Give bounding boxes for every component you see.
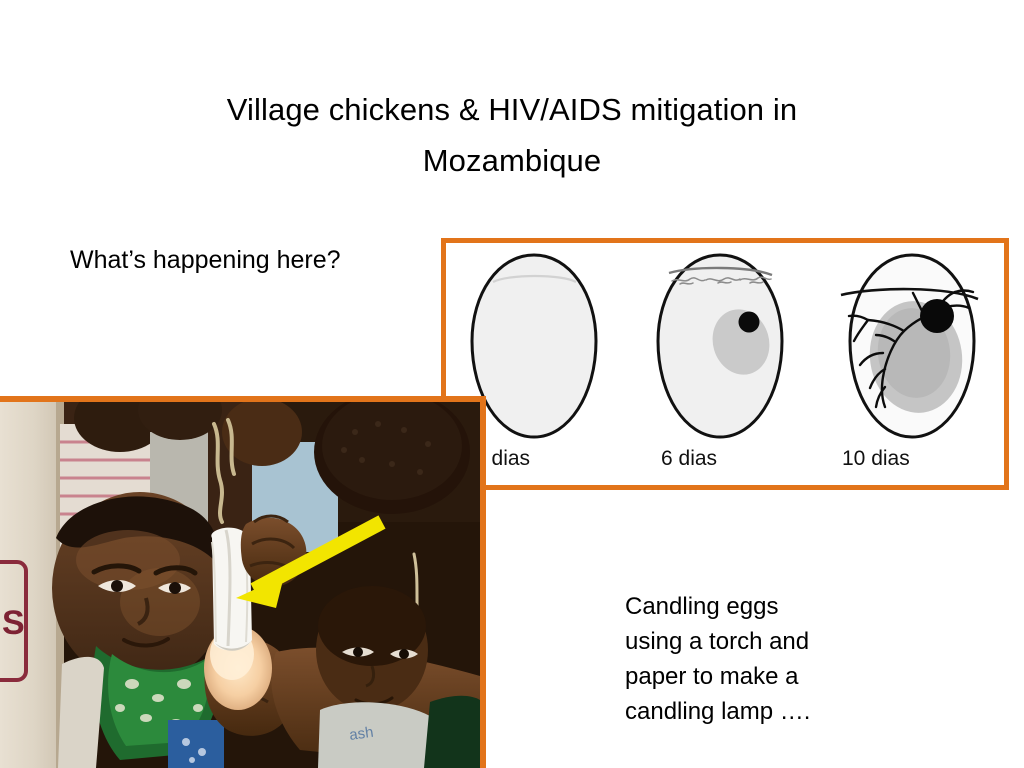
svg-text:S: S	[2, 604, 25, 642]
egg-candling-diagram: 0 dias 6 dias 10 dias	[441, 238, 1009, 490]
photograph-content: S	[0, 402, 480, 768]
egg-diagram-canvas: 0 dias 6 dias 10 dias	[446, 243, 1004, 485]
question-text: What’s happening here?	[70, 244, 341, 276]
caption-text: Candling eggs using a torch and paper to…	[625, 589, 905, 729]
egg-stage-label-6: 6 dias	[661, 447, 717, 471]
egg-stage-label-10: 10 dias	[842, 447, 910, 471]
candling-photograph: S	[0, 396, 486, 768]
egg-stage-10-icon	[828, 249, 996, 447]
page-title: Village chickens & HIV/AIDS mitigation i…	[112, 84, 912, 186]
egg-stage-6-icon	[636, 249, 804, 447]
svg-text:ash: ash	[348, 724, 374, 744]
presentation-slide: Village chickens & HIV/AIDS mitigation i…	[0, 0, 1024, 768]
